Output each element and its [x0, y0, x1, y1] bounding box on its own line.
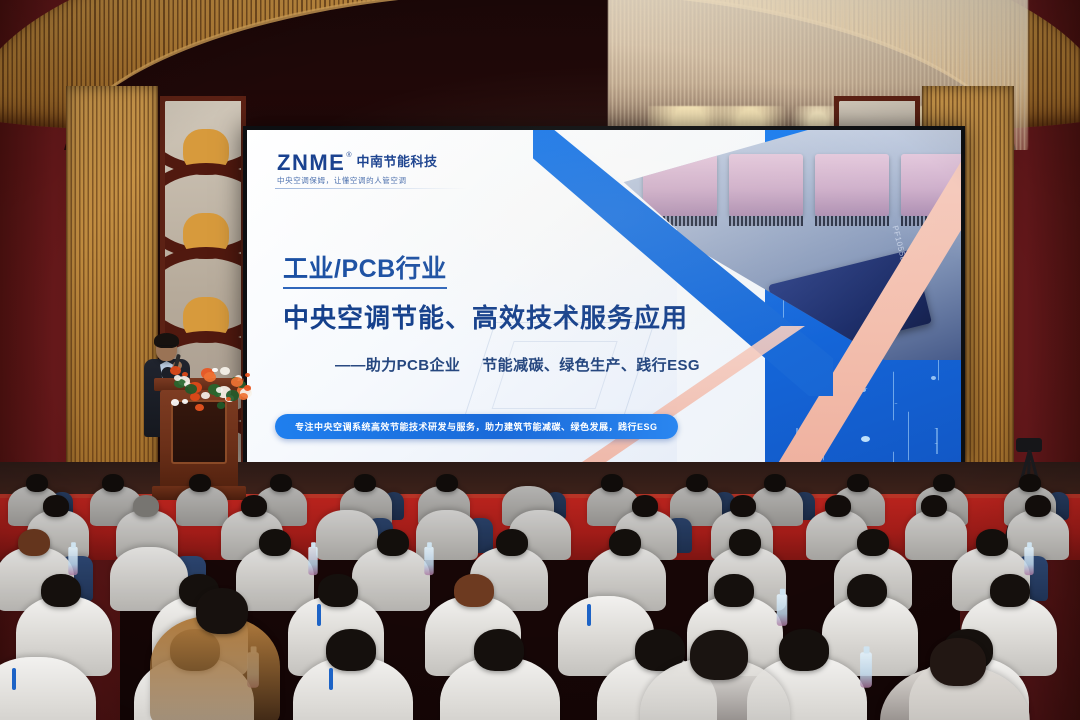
- audience-head: [133, 495, 159, 517]
- audience-head: [601, 474, 623, 492]
- audience-head: [609, 529, 641, 556]
- audience-head: [270, 474, 292, 492]
- flower-blossom: [190, 393, 200, 401]
- logo-tagline: 中央空调保姆，让懂空调的人管空调: [277, 175, 407, 186]
- audience-head: [930, 638, 986, 686]
- audience-head: [436, 474, 458, 492]
- audience-head: [933, 474, 955, 492]
- flower-blossom: [174, 375, 181, 381]
- audience-head: [474, 629, 524, 671]
- flower-blossom: [245, 373, 250, 377]
- slide-banner-text: 专注中央空调系统高效节能技术研发与服务，助力建筑节能减碳、绿色发展，践行ESG: [295, 420, 658, 433]
- audience-head: [18, 529, 50, 556]
- module-pins: [815, 216, 889, 226]
- znme-logo: ZNME ® 中南节能科技: [277, 152, 438, 174]
- audience-head: [496, 529, 528, 556]
- flower-blossom: [185, 384, 197, 394]
- lanyard: [587, 604, 591, 626]
- audience-head: [189, 474, 211, 492]
- audience-head: [354, 474, 376, 492]
- projection-screen: PF1055DL ZNME ® 中南节能科技 中央空调保姆，让懂空调的人管空调 …: [243, 126, 965, 466]
- flower-blossom: [170, 366, 181, 375]
- flower-blossom: [195, 404, 204, 411]
- flower-blossom: [182, 399, 188, 404]
- audience-head: [26, 474, 48, 492]
- audience-head: [1025, 495, 1051, 517]
- flower-blossom: [212, 368, 217, 372]
- flower-blossom: [204, 372, 216, 382]
- network-node: [931, 376, 936, 380]
- slide-title-line-2: 中央空调节能、高效技术服务应用: [283, 298, 688, 335]
- audience-head: [714, 574, 754, 607]
- audience-head: [318, 574, 358, 607]
- audience-head: [241, 495, 267, 517]
- audience-area: [0, 470, 1080, 720]
- network-node: [861, 436, 870, 442]
- audience-head: [976, 529, 1008, 556]
- audience-head: [779, 629, 829, 671]
- water-bottle-icon: [308, 546, 317, 574]
- audience-head: [377, 529, 409, 556]
- audience-head: [857, 529, 889, 556]
- lanyard: [12, 668, 16, 690]
- logo-divider: [275, 188, 467, 189]
- audience-head: [259, 529, 291, 556]
- flower-arrangement-icon: [168, 366, 254, 412]
- lanyard: [329, 668, 333, 690]
- logo-company-name: 中南节能科技: [357, 152, 438, 172]
- flower-blossom: [226, 397, 231, 401]
- flower-blossom: [216, 387, 223, 393]
- water-bottle-icon: [424, 546, 433, 574]
- audience-head: [1019, 474, 1041, 492]
- memory-module: [643, 154, 717, 216]
- subtitle-prefix: ——助力PCB企业: [335, 357, 460, 374]
- audience-head: [847, 474, 869, 492]
- flower-blossom: [231, 377, 243, 387]
- logo-wordmark: ZNME: [277, 152, 345, 174]
- subtitle-suffix: 节能减碳、绿色生产、践行ESG: [482, 357, 700, 374]
- water-bottle-icon: [69, 546, 78, 574]
- audience-head: [990, 574, 1030, 607]
- audience-head: [825, 495, 851, 517]
- audience-head: [326, 629, 376, 671]
- audience-head: [686, 474, 708, 492]
- lanyard: [317, 604, 321, 626]
- audience-head: [102, 474, 124, 492]
- audience-head: [43, 495, 69, 517]
- flower-blossom: [239, 393, 247, 400]
- conference-hall-scene: PF1055DL ZNME ® 中南节能科技 中央空调保姆，让懂空调的人管空调 …: [0, 0, 1080, 720]
- audience-seat: [236, 547, 314, 611]
- presentation-slide: PF1055DL ZNME ® 中南节能科技 中央空调保姆，让懂空调的人管空调 …: [247, 130, 961, 462]
- water-bottle-icon: [1024, 546, 1033, 574]
- speaker-glasses: [157, 345, 176, 350]
- audience-head: [632, 495, 658, 517]
- audience-seat: [905, 510, 967, 560]
- flower-blossom: [217, 402, 224, 408]
- slide-title-line-1: 工业/PCB行业: [283, 249, 447, 289]
- audience-head: [41, 574, 81, 607]
- flower-blossom: [220, 367, 230, 375]
- memory-module: [729, 154, 803, 216]
- audience-head: [729, 529, 761, 556]
- slide-banner-pill: 专注中央空调系统高效节能技术研发与服务，助力建筑节能减碳、绿色发展，践行ESG: [275, 414, 678, 439]
- memory-module: [815, 154, 889, 216]
- audience-head: [690, 630, 748, 680]
- hexagon-link: [936, 428, 938, 454]
- audience-head: [847, 574, 887, 607]
- flower-blossom: [171, 399, 180, 406]
- slide-subtitle: ——助力PCB企业节能减碳、绿色生产、践行ESG: [335, 354, 700, 375]
- audience-head: [730, 495, 756, 517]
- audience-head: [921, 495, 947, 517]
- module-pins: [729, 216, 803, 226]
- audience-seat: [176, 486, 228, 526]
- registered-trademark-icon: ®: [346, 152, 351, 159]
- audience-head: [764, 474, 786, 492]
- water-bottle-icon: [860, 652, 872, 687]
- water-bottle-icon: [777, 594, 788, 626]
- audience-head: [454, 574, 494, 607]
- audience-head: [196, 588, 248, 634]
